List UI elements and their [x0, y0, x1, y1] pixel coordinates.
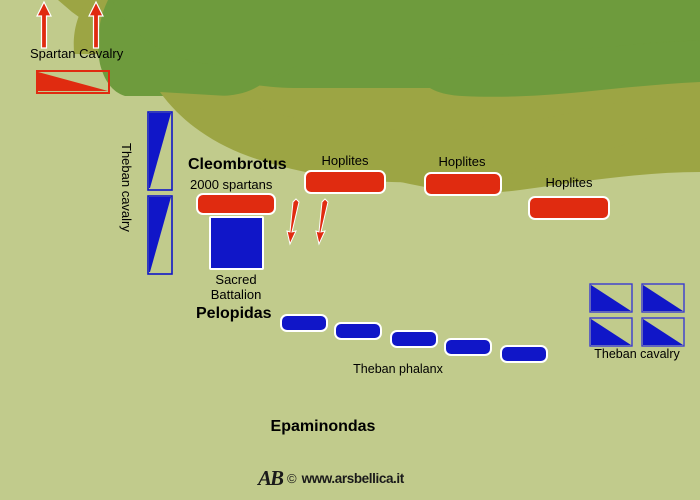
spartan-cavalry-arrow-1 [34, 0, 54, 50]
unit-hoplites-3[interactable] [528, 196, 610, 220]
unit-theban-phalanx-4[interactable] [444, 338, 492, 356]
sacred-battalion-label-line2: Battalion [211, 287, 262, 302]
commander-cleombrotus-label: Cleombrotus [188, 157, 287, 172]
spartan-cavalry-unit[interactable] [36, 70, 110, 94]
hoplites-label-2: Hoplites [439, 154, 486, 169]
unit-theban-phalanx-3[interactable] [390, 330, 438, 348]
unit-sacred-battalion[interactable] [209, 216, 264, 270]
theban-phalanx-label: Theban phalanx [353, 362, 443, 377]
spartan-attack-arrow-1 [283, 198, 305, 246]
commander-pelopidas-label: Pelopidas [196, 306, 272, 321]
commander-epaminondas-label: Epaminondas [271, 419, 376, 434]
watermark: AB © www.arsbellica.it [258, 466, 404, 491]
unit-theban-phalanx-5[interactable] [500, 345, 548, 363]
hoplites-label-1: Hoplites [322, 153, 369, 168]
unit-2000-spartans[interactable] [196, 193, 276, 215]
unit-theban-phalanx-2[interactable] [334, 322, 382, 340]
unit-hoplites-1[interactable] [304, 170, 386, 194]
theban-cavalry-right-unit-2[interactable] [641, 283, 685, 313]
site-url: www.arsbellica.it [302, 471, 404, 486]
spartan-cavalry-label: Spartan Cavalry [30, 46, 123, 61]
unit-theban-phalanx-1[interactable] [280, 314, 328, 332]
spartan-attack-arrow-2 [312, 198, 334, 246]
arsbellica-logo: AB [258, 466, 282, 491]
theban-cavalry-right-unit-4[interactable] [641, 317, 685, 347]
battle-map: Spartan Cavalry Theban cavalry Cleombrot… [0, 0, 700, 500]
spartan-cavalry-arrow-2 [86, 0, 106, 50]
theban-cavalry-right-unit-1[interactable] [589, 283, 633, 313]
theban-cavalry-left-unit-2[interactable] [147, 195, 173, 275]
theban-cavalry-left-unit-1[interactable] [147, 111, 173, 191]
unit-hoplites-2[interactable] [424, 172, 502, 196]
theban-cavalry-right-unit-3[interactable] [589, 317, 633, 347]
theban-cavalry-right-label: Theban cavalry [594, 347, 679, 362]
hoplites-label-3: Hoplites [546, 175, 593, 190]
sacred-battalion-label-line1: Sacred [215, 272, 256, 287]
copyright-symbol: © [287, 471, 297, 486]
spartans-count-label: 2000 spartans [190, 177, 272, 192]
theban-cavalry-left-label: Theban cavalry [119, 143, 134, 232]
